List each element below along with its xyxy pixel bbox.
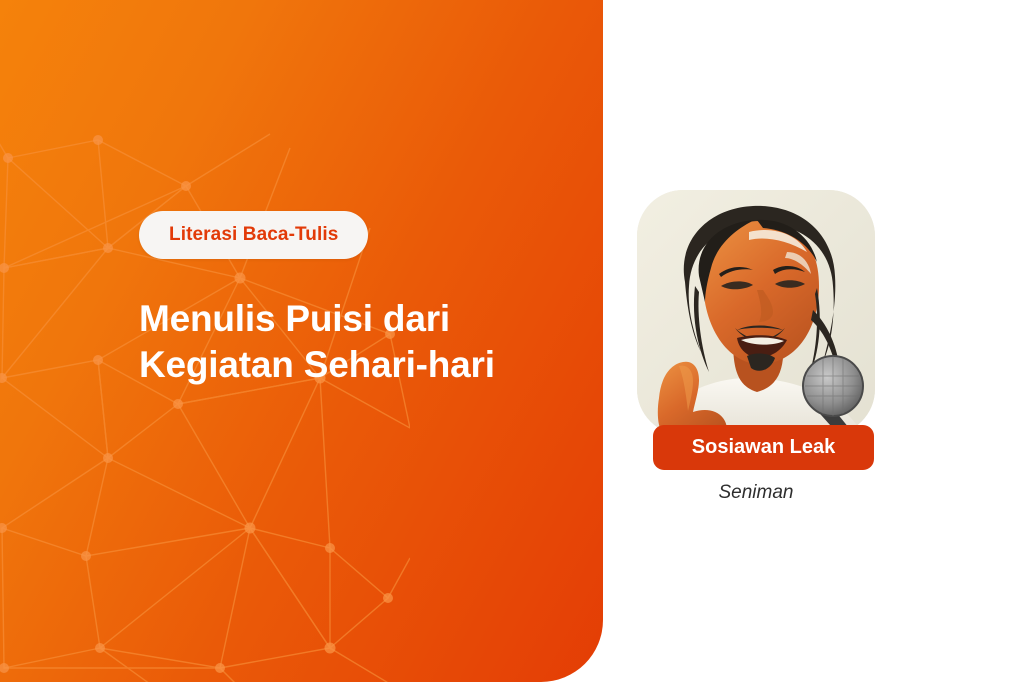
page-title-line-2: Kegiatan Sehari-hari (139, 342, 569, 388)
lesson-card: Literasi Baca-Tulis Menulis Puisi dari K… (0, 0, 1023, 682)
speaker-role: Seniman (637, 482, 875, 504)
category-badge[interactable]: Literasi Baca-Tulis (139, 211, 368, 259)
speaker-photo (637, 190, 875, 435)
speaker-name-badge[interactable]: Sosiawan Leak (653, 425, 874, 470)
page-title-line-1: Menulis Puisi dari (139, 296, 569, 342)
category-badge-label: Literasi Baca-Tulis (169, 224, 338, 246)
speaker-name-label: Sosiawan Leak (692, 436, 835, 459)
page-title: Menulis Puisi dari Kegiatan Sehari-hari (139, 296, 569, 389)
portrait-illustration (637, 190, 875, 435)
speaker-block (637, 190, 875, 435)
hero-panel: Literasi Baca-Tulis Menulis Puisi dari K… (0, 0, 603, 682)
